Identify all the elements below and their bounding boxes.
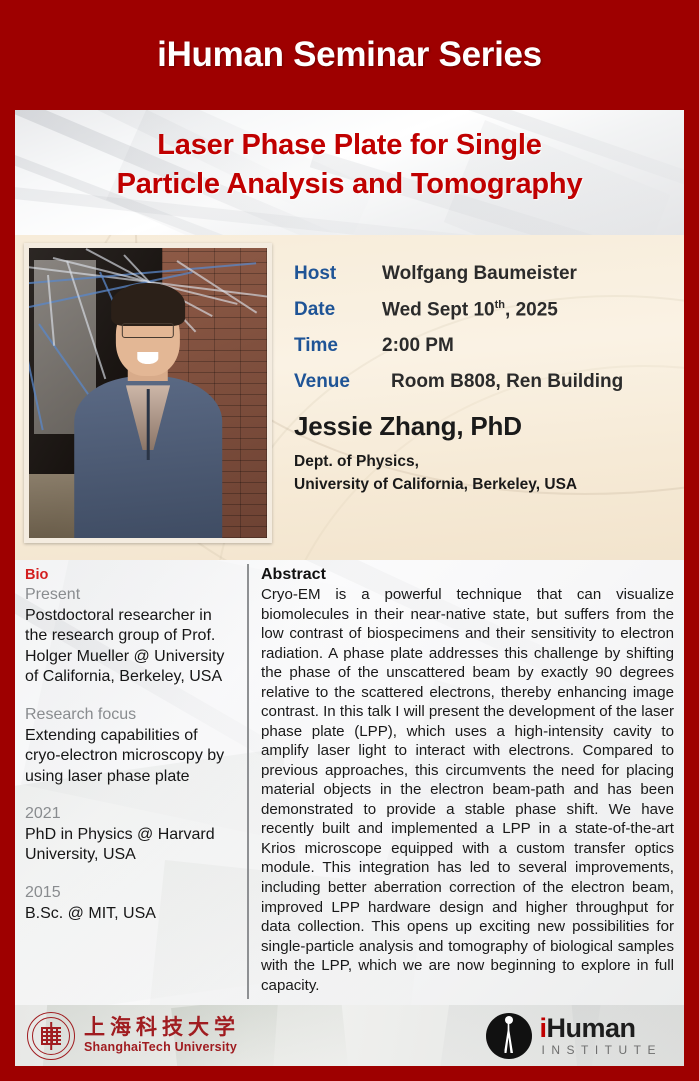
ihuman-name: iHuman bbox=[540, 1015, 663, 1042]
date-value-year: , 2025 bbox=[505, 299, 558, 320]
poster-footer: 上海科技大学 ShanghaiTech University iHuman IN… bbox=[15, 1005, 684, 1066]
bio-column: Bio Present Postdoctoral researcher in t… bbox=[15, 560, 247, 1005]
ihuman-figure-icon bbox=[486, 1013, 532, 1059]
speaker-photo-frame bbox=[24, 243, 272, 543]
bio-text: PhD in Physics @ Harvard University, USA bbox=[25, 825, 237, 866]
venue-value: Room B808, Ren Building bbox=[382, 371, 623, 393]
speaker-section: Host Wolfgang Baumeister Date Wed Sept 1… bbox=[15, 235, 684, 560]
bio-text: B.Sc. @ MIT, USA bbox=[25, 904, 237, 924]
venue-label: Venue bbox=[294, 371, 382, 393]
bio-subheading: 2015 bbox=[25, 883, 237, 904]
ihuman-name-prefix: i bbox=[540, 1013, 547, 1043]
ihuman-name-rest: Human bbox=[547, 1013, 636, 1043]
seminar-poster: iHuman Seminar Series Laser Phase Plate … bbox=[0, 0, 699, 1081]
ihuman-subtitle: INSTITUTE bbox=[540, 1044, 663, 1056]
photo-person-glasses bbox=[122, 323, 174, 338]
shanghaitech-seal-icon bbox=[27, 1012, 75, 1060]
host-label: Host bbox=[294, 263, 382, 285]
photo-person-smile bbox=[137, 352, 158, 364]
bio-block-research-focus: Research focus Extending capabilities of… bbox=[25, 705, 237, 787]
abstract-heading: Abstract bbox=[261, 566, 674, 584]
date-label: Date bbox=[294, 299, 382, 321]
photo-person-zipper bbox=[146, 389, 149, 460]
time-value: 2:00 PM bbox=[382, 335, 454, 357]
seminar-title-line-1: Laser Phase Plate for Single bbox=[15, 126, 684, 165]
detail-row-venue: Venue Room B808, Ren Building bbox=[294, 371, 684, 393]
detail-row-time: Time 2:00 PM bbox=[294, 335, 684, 357]
date-ordinal-suffix: th bbox=[495, 299, 505, 311]
shanghaitech-names: 上海科技大学 ShanghaiTech University bbox=[84, 1016, 240, 1054]
date-value-main: Wed Sept 10 bbox=[382, 299, 495, 320]
seal-core bbox=[41, 1027, 61, 1045]
abstract-column: Abstract Cryo-EM is a powerful technique… bbox=[249, 560, 684, 1005]
photo-person-torso bbox=[74, 376, 222, 538]
host-value: Wolfgang Baumeister bbox=[382, 263, 577, 285]
seminar-title-section: Laser Phase Plate for Single Particle An… bbox=[15, 110, 684, 235]
poster-inner-panel: Laser Phase Plate for Single Particle An… bbox=[15, 110, 684, 1066]
bio-text: Extending capabilities of cryo-electron … bbox=[25, 726, 237, 787]
speaker-affiliation-line-1: Dept. of Physics, bbox=[294, 451, 684, 473]
bio-subheading: 2021 bbox=[25, 804, 237, 825]
bio-block-2021: 2021 PhD in Physics @ Harvard University… bbox=[25, 804, 237, 866]
ihuman-wordmark: iHuman INSTITUTE bbox=[540, 1015, 663, 1056]
abstract-text: Cryo-EM is a powerful technique that can… bbox=[261, 585, 674, 995]
poster-body: Bio Present Postdoctoral researcher in t… bbox=[15, 560, 684, 1005]
seminar-details: Host Wolfgang Baumeister Date Wed Sept 1… bbox=[272, 235, 684, 560]
seminar-title: Laser Phase Plate for Single Particle An… bbox=[15, 110, 684, 204]
bio-heading: Bio bbox=[25, 566, 237, 584]
ihuman-figure-body bbox=[504, 1019, 513, 1053]
seminar-title-line-2: Particle Analysis and Tomography bbox=[15, 165, 684, 204]
speaker-name: Jessie Zhang, PhD bbox=[294, 411, 684, 442]
speaker-affiliation: Dept. of Physics, University of Californ… bbox=[294, 451, 684, 496]
time-label: Time bbox=[294, 335, 382, 357]
date-value: Wed Sept 10th, 2025 bbox=[382, 299, 558, 321]
detail-row-date: Date Wed Sept 10th, 2025 bbox=[294, 299, 684, 321]
shanghaitech-name-cn: 上海科技大学 bbox=[84, 1016, 240, 1038]
bio-subheading: Present bbox=[25, 585, 237, 606]
header-banner: iHuman Seminar Series bbox=[0, 0, 699, 110]
photo-person-hair bbox=[111, 283, 185, 327]
shanghaitech-logo: 上海科技大学 ShanghaiTech University bbox=[27, 1012, 240, 1060]
bio-text: Postdoctoral researcher in the research … bbox=[25, 606, 237, 688]
detail-row-host: Host Wolfgang Baumeister bbox=[294, 263, 684, 285]
bio-block-2015: 2015 B.Sc. @ MIT, USA bbox=[25, 883, 237, 924]
speaker-photo bbox=[29, 248, 267, 538]
shanghaitech-name-en: ShanghaiTech University bbox=[84, 1041, 240, 1054]
page-title: iHuman Seminar Series bbox=[157, 35, 542, 75]
speaker-affiliation-line-2: University of California, Berkeley, USA bbox=[294, 474, 684, 496]
bio-subheading: Research focus bbox=[25, 705, 237, 726]
bio-block-present: Present Postdoctoral researcher in the r… bbox=[25, 585, 237, 688]
ihuman-logo: iHuman INSTITUTE bbox=[486, 1013, 663, 1059]
